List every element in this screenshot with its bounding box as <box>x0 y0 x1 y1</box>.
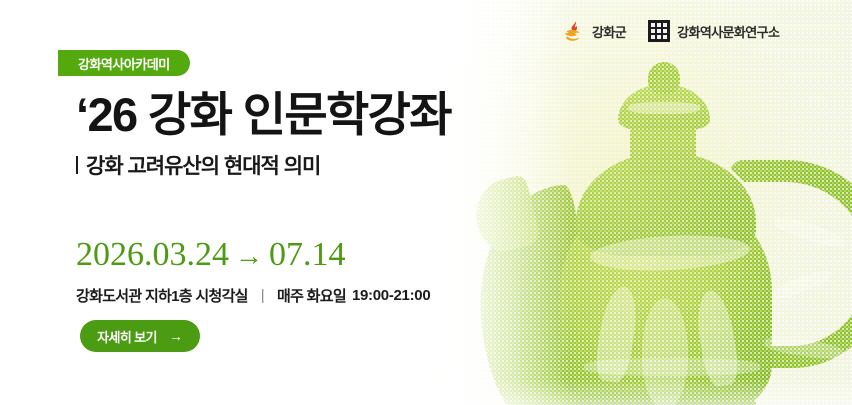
date-range-arrow-icon: → <box>229 241 269 272</box>
category-badge: 강화역사아카데미 <box>58 50 190 76</box>
event-venue-schedule: 강화도서관 지하1층 시청각실 | 매주 화요일 19:00-21:00 <box>76 285 430 306</box>
venue-separator: | <box>248 287 277 304</box>
logo-ganghwa-gun[interactable]: 강화군 <box>563 20 626 42</box>
view-details-button[interactable]: 자세히 보기 → <box>80 320 200 352</box>
ewer-knob-shape <box>648 62 680 94</box>
arrow-right-icon: → <box>169 329 183 343</box>
artwork-bottom-fade <box>422 379 852 405</box>
event-venue: 강화도서관 지하1층 시청각실 <box>76 285 248 306</box>
subtitle-tick-mark <box>76 156 78 174</box>
artwork-left-fade <box>422 0 572 405</box>
banner-title: ‘26 강화 인문학강좌 <box>76 88 451 142</box>
ewer-inlay-motif <box>584 358 760 376</box>
category-badge-label: 강화역사아카데미 <box>78 54 170 73</box>
event-date-range: 2026.03.24→07.14 <box>76 236 346 274</box>
logo-ganghwa-gun-label: 강화군 <box>592 22 626 41</box>
logo-institute-label: 강화역사문화연구소 <box>677 22 779 41</box>
event-promo-banner: 강화군 강화역사문화연구소 강화역사아카데미 ‘26 강화 인문학강좌 강화 고… <box>0 0 852 405</box>
institute-seal-icon <box>648 20 670 42</box>
event-end-date: 07.14 <box>269 236 346 273</box>
ganghwa-gun-emblem-icon <box>563 20 585 42</box>
event-schedule-day: 매주 화요일 <box>277 285 346 306</box>
view-details-label: 자세히 보기 <box>97 327 157 346</box>
event-start-date: 2026.03.24 <box>76 236 229 273</box>
ewer-inlay-motif <box>628 102 700 114</box>
celadon-ewer-halftone-illustration <box>422 0 852 405</box>
banner-subtitle: 강화 고려유산의 현대적 의미 <box>76 150 320 180</box>
partner-logos: 강화군 강화역사문화연구소 <box>563 20 779 42</box>
logo-institute[interactable]: 강화역사문화연구소 <box>648 20 779 42</box>
event-schedule-time: 19:00-21:00 <box>346 287 430 304</box>
banner-subtitle-text: 강화 고려유산의 현대적 의미 <box>86 150 320 180</box>
